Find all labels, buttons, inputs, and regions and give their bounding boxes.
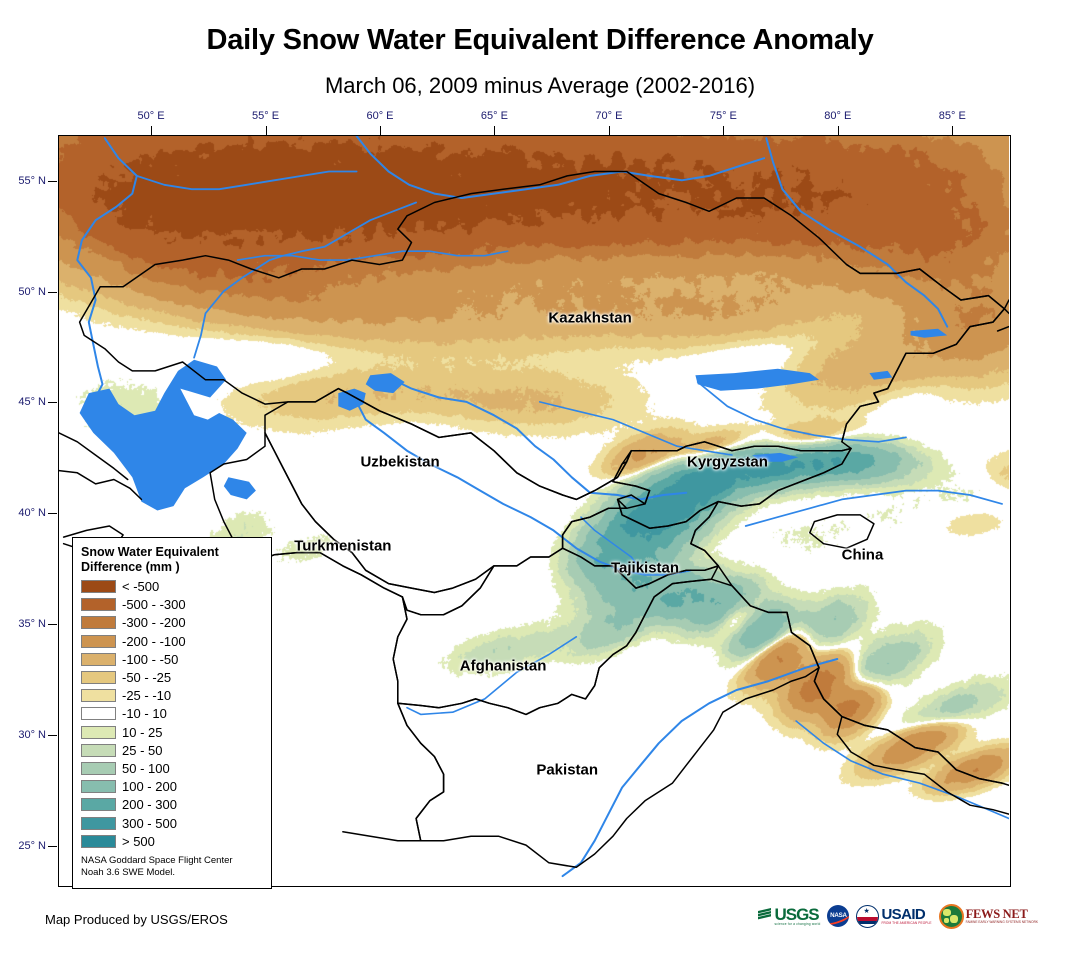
kama-river <box>137 172 357 190</box>
legend-row: -25 - -10 <box>81 687 263 705</box>
fews-logo-text: FEWS NET <box>966 908 1038 921</box>
legend-row: > 500 <box>81 832 263 850</box>
legend-row: -300 - -200 <box>81 614 263 632</box>
mongolia-border <box>998 327 1009 331</box>
fews-globe-land-3 <box>944 918 949 923</box>
legend-row: 50 - 100 <box>81 759 263 777</box>
legend-label: 100 - 200 <box>122 780 177 793</box>
legend-row: 25 - 50 <box>81 741 263 759</box>
legend-swatch <box>81 835 116 848</box>
legend-row: -50 - -25 <box>81 668 263 686</box>
usgs-logo-subtext: science for a changing world <box>774 923 820 926</box>
lat-tick-label-25: 25° N <box>8 840 46 852</box>
lat-tick-label-50: 50° N <box>8 286 46 298</box>
lon-tick-label-80: 80° E <box>824 110 851 122</box>
lat-tick-35 <box>48 624 57 625</box>
legend-label: 10 - 25 <box>122 726 162 739</box>
legend-label: -200 - -100 <box>122 635 186 648</box>
legend-source-line1: NASA Goddard Space Flight Center <box>81 855 263 867</box>
chu-river <box>540 402 732 455</box>
legend-swatch <box>81 762 116 775</box>
page-title: Daily Snow Water Equivalent Difference A… <box>0 24 1080 57</box>
legend-label: < -500 <box>122 580 159 593</box>
legend-label: 300 - 500 <box>122 817 177 830</box>
legend-swatch <box>81 616 116 629</box>
afghanistan-border <box>393 548 718 714</box>
helmand-river <box>407 637 576 715</box>
lat-tick-55 <box>48 181 57 182</box>
lake-balkhash <box>695 369 819 391</box>
usgs-logo: USGS science for a changing world <box>758 902 820 930</box>
china-border-northwest <box>842 309 1005 442</box>
legend-swatch <box>81 798 116 811</box>
lake-zaysan <box>911 329 948 338</box>
usaid-star-icon: ★ <box>863 908 869 915</box>
legend-label: 25 - 50 <box>122 744 162 757</box>
legend-label: -50 - -25 <box>122 671 171 684</box>
syr-darya-river <box>389 378 687 500</box>
indus-river <box>563 659 838 876</box>
uzbekistan-border <box>265 389 650 593</box>
aral-sea-west <box>338 389 365 411</box>
legend-row: -10 - 10 <box>81 705 263 723</box>
nasa-logo-text: NASA <box>827 912 849 919</box>
legend-source-note: NASA Goddard Space Flight Center Noah 3.… <box>81 855 263 879</box>
usgs-wave-icon <box>758 908 772 923</box>
lat-tick-label-55: 55° N <box>8 175 46 187</box>
lat-tick-label-45: 45° N <box>8 396 46 408</box>
tarim-river <box>746 491 1002 526</box>
lon-tick-75 <box>723 126 724 135</box>
fews-logo-subtext: FAMINE EARLY WARNING SYSTEMS NETWORK <box>966 921 1038 924</box>
fews-globe-land-1 <box>943 909 951 916</box>
lon-tick-70 <box>609 126 610 135</box>
legend-row: 100 - 200 <box>81 778 263 796</box>
lon-tick-55 <box>266 126 267 135</box>
lat-tick-25 <box>48 846 57 847</box>
legend-swatch <box>81 580 116 593</box>
legend-class-list: < -500-500 - -300-300 - -200-200 - -100-… <box>81 578 263 851</box>
logo-strip: USGS science for a changing world NASA ★… <box>758 901 1038 931</box>
legend-label: 200 - 300 <box>122 798 177 811</box>
lat-tick-label-30: 30° N <box>8 729 46 741</box>
lat-tick-40 <box>48 513 57 514</box>
lon-tick-label-60: 60° E <box>366 110 393 122</box>
fews-globe-land-2 <box>950 915 958 923</box>
produced-by-text: Map Produced by USGS/EROS <box>45 912 228 927</box>
irtysh-ob-river <box>357 136 764 198</box>
legend-source-line2: Noah 3.6 SWE Model. <box>81 867 263 879</box>
legend-row: -200 - -100 <box>81 632 263 650</box>
russia-mongolia-border <box>1004 300 1009 309</box>
ili-river <box>698 382 906 442</box>
legend-swatch <box>81 744 116 757</box>
lat-tick-45 <box>48 402 57 403</box>
fews-net-logo: FEWS NET FAMINE EARLY WARNING SYSTEMS NE… <box>939 902 1038 930</box>
lon-tick-label-65: 65° E <box>481 110 508 122</box>
legend-label: -500 - -300 <box>122 598 186 611</box>
legend-row: -100 - -50 <box>81 650 263 668</box>
lat-tick-label-40: 40° N <box>8 507 46 519</box>
irtysh-upper <box>766 138 947 326</box>
legend-label: 50 - 100 <box>122 762 170 775</box>
lake-issyk-kul <box>753 453 799 462</box>
legend-swatch <box>81 689 116 702</box>
lon-tick-60 <box>380 126 381 135</box>
china-kazakhstan-border-north <box>847 265 1010 314</box>
fews-globe-icon <box>939 904 964 929</box>
legend-swatch <box>81 635 116 648</box>
legend-panel: Snow Water Equivalent Difference (mm ) <… <box>72 537 272 889</box>
tarim-basin-outline <box>810 515 874 548</box>
legend-row: 10 - 25 <box>81 723 263 741</box>
lon-tick-label-75: 75° E <box>710 110 737 122</box>
volga-river <box>77 138 137 397</box>
legend-swatch <box>81 817 116 830</box>
legend-title-line2: Difference (mm ) <box>81 560 263 575</box>
usgs-logo-text: USGS <box>774 906 820 923</box>
lon-tick-label-85: 85° E <box>939 110 966 122</box>
lon-tick-85 <box>952 126 953 135</box>
india-china-border <box>814 668 1002 783</box>
usaid-logo: ★ USAID FROM THE AMERICAN PEOPLE <box>856 902 931 930</box>
legend-row: -500 - -300 <box>81 596 263 614</box>
page-subtitle: March 06, 2009 minus Average (2002-2016) <box>0 73 1080 99</box>
legend-swatch <box>81 780 116 793</box>
nasa-meatball-icon: NASA <box>827 905 849 927</box>
legend-label: -100 - -50 <box>122 653 178 666</box>
lon-tick-50 <box>151 126 152 135</box>
legend-swatch <box>81 707 116 720</box>
lat-tick-30 <box>48 735 57 736</box>
lon-tick-label-70: 70° E <box>595 110 622 122</box>
lake-alakol <box>869 371 892 380</box>
ural-river <box>194 203 416 358</box>
legend-label: -25 - -10 <box>122 689 171 702</box>
legend-row: < -500 <box>81 578 263 596</box>
usaid-seal-icon: ★ <box>856 905 879 928</box>
legend-swatch <box>81 726 116 739</box>
lon-tick-65 <box>494 126 495 135</box>
kara-bogaz-gol <box>224 477 256 499</box>
lat-tick-50 <box>48 292 57 293</box>
lon-tick-label-55: 55° E <box>252 110 279 122</box>
legend-swatch <box>81 653 116 666</box>
ganges-river <box>796 721 1009 819</box>
legend-label: > 500 <box>122 835 155 848</box>
legend-swatch <box>81 598 116 611</box>
pakistan-border <box>398 579 819 867</box>
caspian-sea <box>80 360 247 511</box>
legend-row: 200 - 300 <box>81 796 263 814</box>
azerbaijan-border <box>59 471 141 500</box>
legend-row: 300 - 500 <box>81 814 263 832</box>
lon-tick-80 <box>838 126 839 135</box>
usaid-band-blue <box>857 921 878 924</box>
lon-tick-label-50: 50° E <box>138 110 165 122</box>
legend-title: Snow Water Equivalent Difference (mm ) <box>81 545 263 575</box>
lat-tick-label-35: 35° N <box>8 618 46 630</box>
legend-label: -10 - 10 <box>122 707 167 720</box>
legend-label: -300 - -200 <box>122 616 186 629</box>
usaid-logo-text: USAID <box>881 907 931 922</box>
legend-swatch <box>81 671 116 684</box>
usaid-logo-subtext: FROM THE AMERICAN PEOPLE <box>881 922 931 925</box>
nasa-logo: NASA <box>827 902 849 930</box>
ural-tobol <box>238 251 508 260</box>
legend-title-line1: Snow Water Equivalent <box>81 545 263 560</box>
